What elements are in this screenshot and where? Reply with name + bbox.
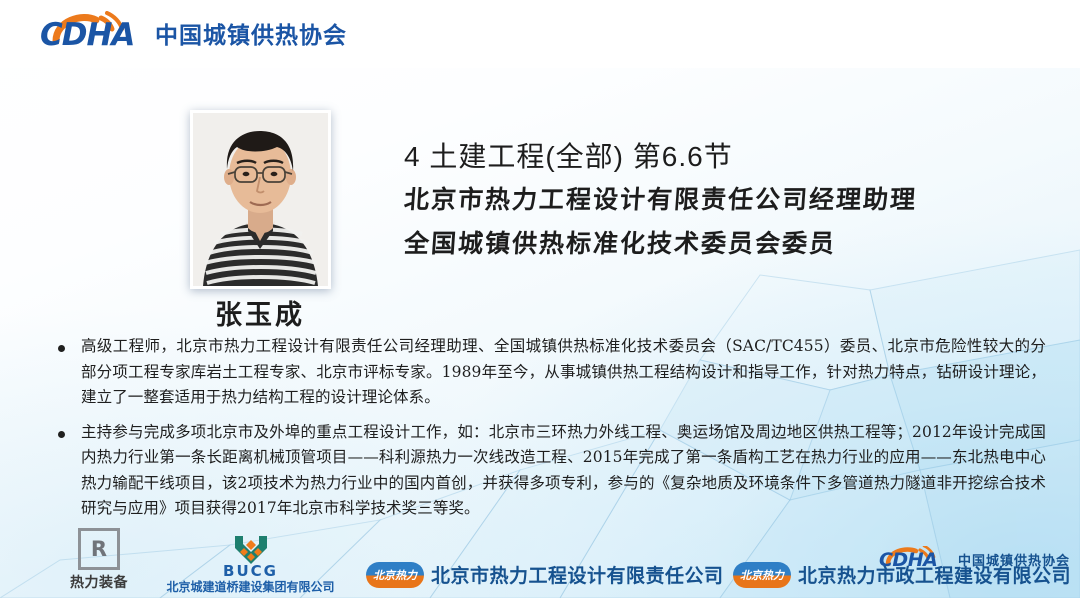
beijing-reli-logo-icon: 北京热力 bbox=[366, 562, 424, 588]
speaker-photo bbox=[193, 113, 328, 286]
cdha-footer-mark: CDHA bbox=[877, 546, 951, 572]
portrait-illustration bbox=[193, 113, 328, 286]
sponsor-label: 北京城建道桥建设集团有限公司 bbox=[158, 579, 343, 595]
sponsor-bucg: BUCG 北京城建道桥建设集团有限公司 bbox=[158, 534, 343, 595]
bucg-wordmark: BUCG bbox=[158, 564, 343, 579]
cdha-footer-wordmark: CDHA bbox=[879, 549, 937, 571]
slide-footer: R 热力装备 BUCG 北京城建道桥建设集团有限公司 bbox=[0, 536, 1080, 598]
cdha-footer-chinese-name: 中国城镇供热协会 bbox=[958, 550, 1070, 572]
list-item: 主持参与完成多项北京市及外埠的重点工程设计工作，如：北京市三环热力外线工程、奥运… bbox=[58, 420, 1046, 522]
bucg-emblem-icon bbox=[231, 534, 271, 564]
title-subtitle-2: 全国城镇供热标准化技术委员会委员 bbox=[402, 222, 918, 266]
sponsor-label: 北京市热力工程设计有限责任公司 bbox=[431, 561, 724, 588]
bullet-dot-icon bbox=[58, 431, 65, 438]
cdha-footer-logo: CDHA 中国城镇供热协会 bbox=[877, 546, 1070, 572]
bullet-text: 高级工程师，北京市热力工程设计有限责任公司经理助理、全国城镇供热标准化技术委员会… bbox=[81, 334, 1046, 411]
cdha-logo: CDHA 中国城镇供热协会 bbox=[38, 11, 347, 55]
sponsor-bjrl-design: 北京热力 北京市热力工程设计有限责任公司 bbox=[366, 561, 724, 588]
sponsor-reli-zhuangbei: R 热力装备 bbox=[68, 528, 130, 592]
beijing-reli-wordmark: 北京热力 bbox=[373, 567, 417, 583]
list-item: 高级工程师，北京市热力工程设计有限责任公司经理助理、全国城镇供热标准化技术委员会… bbox=[58, 334, 1046, 411]
bio-bullet-list: 高级工程师，北京市热力工程设计有限责任公司经理助理、全国城镇供热标准化技术委员会… bbox=[58, 334, 1046, 531]
cdha-logo-mark: CDHA bbox=[38, 11, 146, 55]
speaker-name: 张玉成 bbox=[150, 293, 370, 332]
bullet-text: 主持参与完成多项北京市及外埠的重点工程设计工作，如：北京市三环热力外线工程、奥运… bbox=[81, 420, 1046, 522]
reli-mark-icon: R bbox=[78, 528, 120, 570]
beijing-reli-wordmark: 北京热力 bbox=[740, 567, 784, 583]
sponsor-label: 热力装备 bbox=[68, 572, 130, 592]
bullet-dot-icon bbox=[58, 345, 65, 352]
cdha-wordmark: CDHA bbox=[40, 13, 134, 57]
title-subtitle-1: 北京市热力工程设计有限责任公司经理助理 bbox=[402, 178, 918, 222]
slide-header: CDHA 中国城镇供热协会 bbox=[0, 0, 1080, 68]
slide-root: CDHA 中国城镇供热协会 bbox=[0, 0, 1080, 598]
speaker-photo-frame bbox=[190, 110, 331, 289]
title-block: 4 土建工程(全部) 第6.6节 北京市热力工程设计有限责任公司经理助理 全国城… bbox=[404, 136, 917, 266]
page-title: 4 土建工程(全部) 第6.6节 bbox=[404, 136, 917, 178]
bucg-mark-icon bbox=[231, 534, 271, 564]
beijing-reli-logo-icon: 北京热力 bbox=[733, 562, 791, 588]
cdha-chinese-name: 中国城镇供热协会 bbox=[155, 16, 347, 55]
